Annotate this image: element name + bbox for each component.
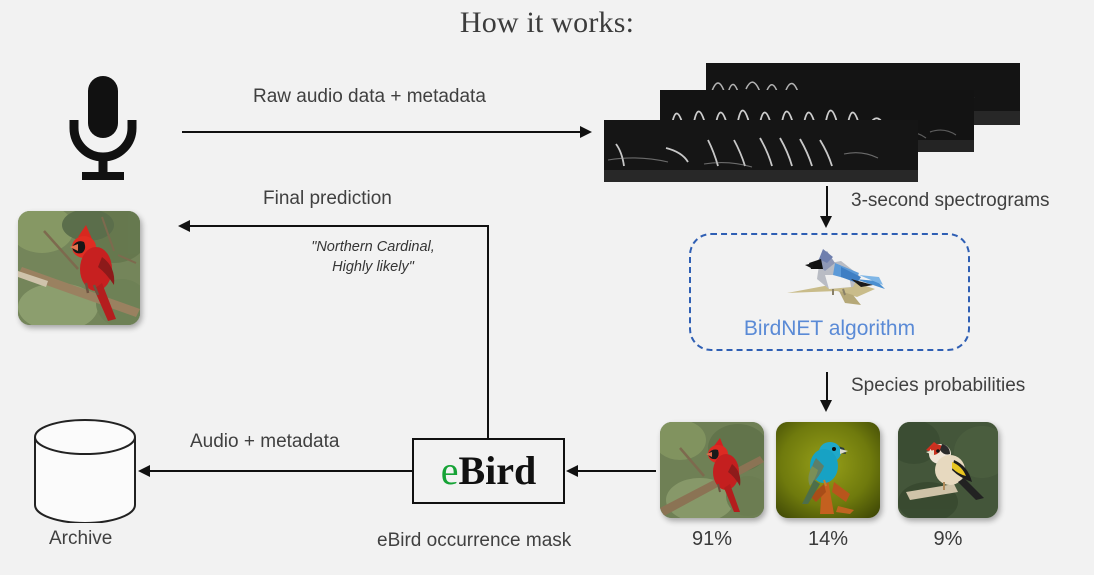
- northern-cardinal-photo: [660, 422, 764, 518]
- prediction-percent-2: 14%: [776, 528, 880, 551]
- arrow-spectrograms-to-birdnet: [826, 186, 828, 218]
- arrow-mic-to-spectrograms: [182, 131, 582, 133]
- edge-label-spectrograms: 3-second spectrograms: [851, 190, 1050, 212]
- ebird-box[interactable]: eBird: [412, 438, 565, 504]
- birdnet-algorithm-box[interactable]: BirdNET algorithm: [689, 233, 970, 351]
- page-title: How it works:: [0, 6, 1094, 40]
- microphone-icon: [60, 72, 146, 182]
- ebird-logo-rest: Bird: [458, 448, 536, 493]
- archive-label: Archive: [49, 528, 112, 550]
- arrow-head-down-icon: [820, 400, 832, 412]
- blue-jay-logo-icon: [779, 245, 889, 307]
- spectrogram-image-1: [604, 120, 918, 182]
- arrow-ebird-to-prediction-vertical: [487, 226, 489, 439]
- arrow-head-left-icon: [178, 220, 190, 232]
- edge-label-audio-metadata: Audio + metadata: [190, 431, 339, 453]
- final-prediction-quote: "Northern Cardinal, Highly likely": [268, 238, 478, 277]
- prediction-percent-3: 9%: [898, 528, 998, 551]
- arrow-head-right-icon: [580, 126, 592, 138]
- edge-label-species-probabilities: Species probabilities: [851, 375, 1025, 397]
- final-prediction-quote-line2: Highly likely": [268, 258, 478, 278]
- european-goldfinch-photo: [898, 422, 998, 518]
- diagram-canvas: How it works: Raw audio data + metadata: [0, 0, 1094, 575]
- arrow-birdnet-to-species: [826, 372, 828, 402]
- arrow-head-left-icon: [138, 465, 150, 477]
- arrow-species-to-ebird: [578, 470, 656, 472]
- archive-database-icon: [33, 419, 138, 523]
- edge-label-final-prediction: Final prediction: [263, 188, 392, 210]
- arrow-ebird-to-archive: [150, 470, 412, 472]
- prediction-item-2[interactable]: 14%: [776, 422, 880, 551]
- prediction-item-3[interactable]: 9%: [898, 422, 998, 551]
- arrow-head-left-icon: [566, 465, 578, 477]
- arrow-head-down-icon: [820, 216, 832, 228]
- birdnet-label: BirdNET algorithm: [691, 317, 968, 341]
- edge-label-raw-audio: Raw audio data + metadata: [253, 86, 486, 108]
- indigo-bunting-photo: [776, 422, 880, 518]
- final-prediction-photo: [18, 211, 140, 325]
- prediction-percent-1: 91%: [660, 528, 764, 551]
- arrow-ebird-to-prediction-horizontal: [190, 225, 489, 227]
- prediction-item-1[interactable]: 91%: [660, 422, 764, 551]
- ebird-occurrence-mask-caption: eBird occurrence mask: [377, 530, 571, 552]
- final-prediction-quote-line1: "Northern Cardinal,: [268, 238, 478, 258]
- ebird-logo: eBird: [441, 451, 537, 491]
- ebird-logo-e: e: [441, 448, 459, 493]
